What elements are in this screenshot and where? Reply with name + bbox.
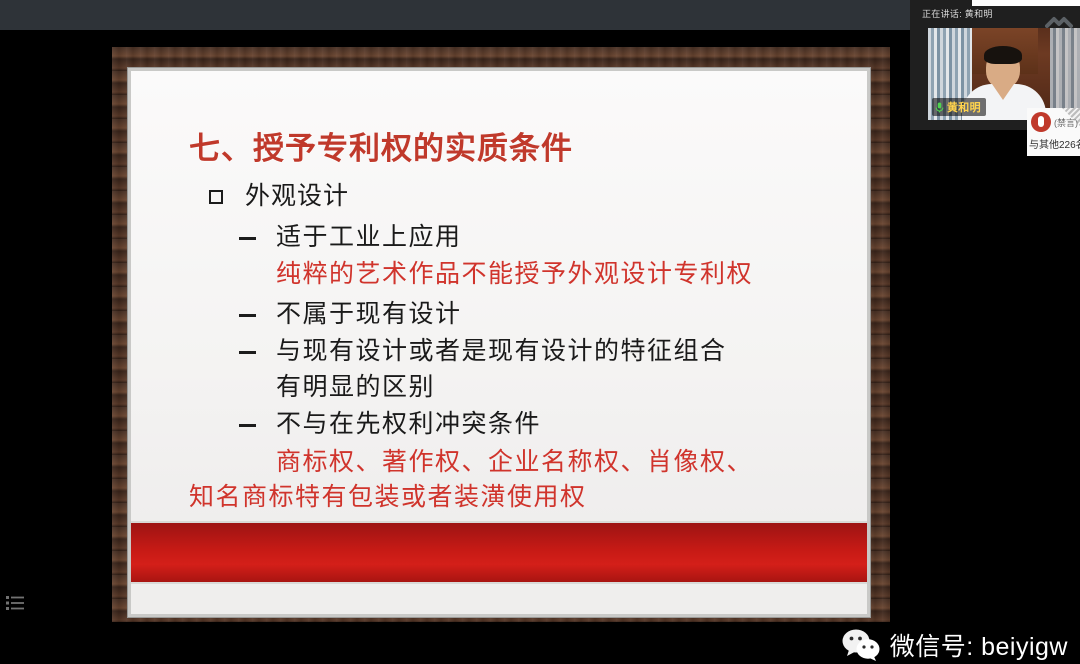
video-feed: 黄和明 [928,28,1080,120]
slide-bullet-label: 不与在先权利冲突条件 [276,406,541,442]
slide-bullet-label: 与现有设计或者是现有设计的特征组合有明显的区别 [276,333,746,404]
slide-emphasis-line: 商标权、著作权、企业名称权、肖像权、 [276,444,870,480]
dash-bullet-icon [239,314,256,317]
dash-bullet-icon [239,351,256,354]
top-toolbar-left-region [0,0,910,30]
wechat-icon [841,628,881,662]
participants-notice-popup[interactable]: (禁言) 与其他226名 [1027,108,1080,156]
slide-level1-label: 外观设计 [245,179,349,213]
other-participants-label: 与其他226名 [1029,136,1080,151]
slide-footer-strip [131,584,870,614]
slide-bullet-row: 与现有设计或者是现有设计的特征组合有明显的区别 [239,333,870,404]
watermark-text: 微信号: beiyigw [890,627,1068,663]
bookshelf-background-right [1050,28,1080,120]
slide-bullet-label: 不属于现有设计 [276,296,462,332]
mute-status-label: (禁言) [1054,116,1078,129]
slide-level1-item: 外观设计 [209,179,870,213]
collapse-panel-button[interactable] [1044,14,1074,30]
dash-bullet-icon [239,424,256,427]
conference-screen-share-window: 七、授予专利权的实质条件 外观设计 适于工业上应用 纯粹的艺术作品不能授予外观设… [0,0,1080,664]
presentation-slide: 七、授予专利权的实质条件 外观设计 适于工业上应用 纯粹的艺术作品不能授予外观设… [128,68,870,617]
speaking-status-label: 正在讲话: 黄和明 [922,7,993,20]
background-window-edge [972,0,1080,6]
slide-emphasis-line: 知名商标特有包装或者装潢使用权 [189,479,870,515]
slide-bullet-row: 不属于现有设计 [239,296,870,332]
chevron-collapse-icon [1045,15,1073,29]
slide-textured-frame: 七、授予专利权的实质条件 外观设计 适于工业上应用 纯粹的艺术作品不能授予外观设… [112,47,890,622]
slide-title: 七、授予专利权的实质条件 [189,123,573,168]
participant-name-label: 黄和明 [947,99,981,115]
slide-bullet-row: 不与在先权利冲突条件 [239,406,870,442]
square-bullet-icon [209,190,223,204]
list-menu-icon[interactable] [6,595,24,611]
mute-all-icon [1031,112,1051,132]
slide-emphasis-line: 纯粹的艺术作品不能授予外观设计专利权 [276,256,870,292]
slide-bullet-label: 适于工业上应用 [276,219,462,255]
microphone-icon [935,102,944,113]
slide-body: 外观设计 适于工业上应用 纯粹的艺术作品不能授予外观设计专利权 不属于现有设计 … [131,179,870,515]
dash-bullet-icon [239,237,256,240]
slide-bullet-row: 适于工业上应用 [239,219,870,255]
slide-red-band [131,521,870,584]
wechat-watermark: 微信号: beiyigw [841,627,1068,663]
participant-name-chip: 黄和明 [932,98,986,116]
participant-hair [984,46,1022,64]
